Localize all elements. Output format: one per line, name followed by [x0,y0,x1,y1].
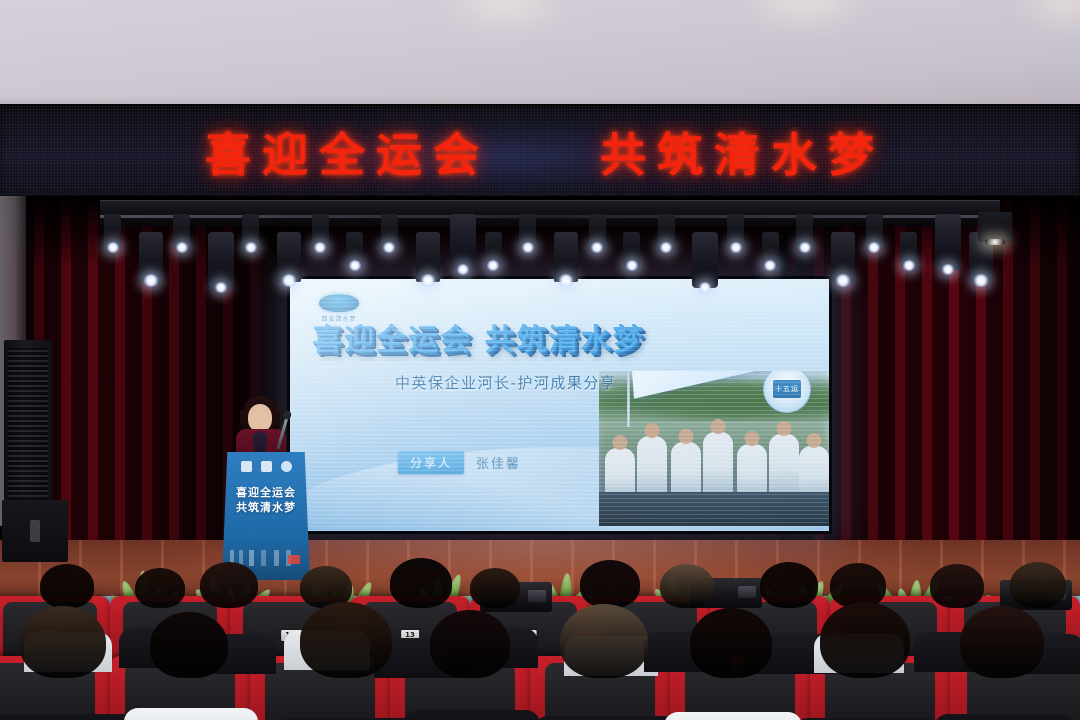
audience-member-head [690,608,772,678]
flag-pole [627,371,630,427]
podium-line-2: 共筑清水梦 [222,500,310,515]
audience-member-head [20,606,106,678]
stage-light-bulb [106,242,119,253]
stage-light [692,232,718,288]
audience-member-head [560,604,648,678]
slide-photo-inset: 以绿水青山之志 企业护河 中英保巡河护河志愿服务队 十五运 [599,371,829,526]
ceiling-light-glow [760,0,850,14]
ceiling [0,0,1080,112]
stage-light-bulb [835,274,851,287]
stage-light [450,214,476,270]
stage-light [519,214,536,248]
audience-member-head [300,602,392,678]
audience-member-shoulders [534,716,678,720]
sponsor-logo-icon [241,461,252,472]
side-stage-light [978,212,1012,242]
audience-member-head [830,563,886,608]
audience-member-shoulders [124,708,258,720]
slide-presenter-line: 分享人 张佳馨 [398,451,521,474]
stage-light-bulb [941,264,954,275]
stage-light-bulb [660,242,673,253]
stage-light [935,214,961,270]
stage-light [312,214,329,248]
stage-light [762,232,779,266]
led-banner-text: 喜迎全运会 共筑清水梦 [0,104,1080,200]
stage-light-bulb [521,242,534,253]
stage-light-bulb [214,282,227,293]
podium-logos [222,461,310,472]
ceiling-light-glow [1030,0,1080,16]
audience-member-head [1010,562,1066,608]
stage-light [554,232,578,282]
audience-member-shoulders [664,712,802,720]
stage-light-bulb [591,242,604,253]
audience-member-head [660,564,714,608]
stage-light [104,214,121,248]
stage-lights [100,212,1000,292]
stage-light [727,214,744,248]
sponsor-logo-icon [281,461,292,472]
stage-light-bulb [348,260,361,271]
audience-member-shoulders [0,714,136,720]
audience-member-head [470,568,520,608]
stage-light-bulb [699,282,712,293]
stage-light-bulb [383,242,396,253]
stage-light [208,232,234,288]
audience-member-head [580,560,640,608]
stage-light-bulb [868,242,881,253]
stage-light-bulb [420,274,436,287]
slide-surface: 西安清水梦 喜迎全运会 共筑清水梦 中英保企业河长-护河成果分享 分享人 张佳馨 [290,279,829,531]
presenter-head [248,404,272,432]
pa-speaker-stack [4,340,52,510]
stage-light-bulb [244,242,257,253]
auditorium-scene: 喜迎全运会 共筑清水梦 西安清水梦 喜迎全运会 共筑清水梦 中英保企业河长-护河… [0,0,1080,720]
audience-member-head [960,606,1044,678]
stage-light-bulb [558,274,574,287]
stage-light-bulb [764,260,777,271]
stage-light [416,232,440,282]
stage-light [277,232,301,282]
audience-member-head [135,568,185,608]
led-banner-left-text: 喜迎全运会 [205,119,490,185]
podium-text: 喜迎全运会 共筑清水梦 [222,485,310,515]
audience-member-head [150,612,228,678]
audience-member-shoulders [934,714,1074,720]
stage-light [139,232,163,282]
presenter-figure [234,396,288,458]
projection-screen: 西安清水梦 喜迎全运会 共筑清水梦 中英保企业河长-护河成果分享 分享人 张佳馨 [287,276,832,534]
audience-member-head [200,562,258,608]
stage-light-bulb [625,260,638,271]
audience-member-head [390,558,452,608]
audience-member-head [40,564,94,608]
stage-light [242,214,259,248]
slide-subtitle: 中英保企业河长-护河成果分享 [395,372,616,393]
stage-light-bulb [281,274,297,287]
stage-light [831,232,855,282]
stage-light [900,232,917,266]
stage-light-bulb [902,260,915,271]
stage-light [346,232,363,266]
stage-light [381,214,398,248]
sponsor-logo-icon [261,461,272,472]
stage-light [173,214,190,248]
stage-light-bulb [729,242,742,253]
audience-member-head [760,562,818,608]
photo-foreground-bench [599,492,829,526]
stage-light-bulb [314,242,327,253]
led-banner: 喜迎全运会 共筑清水梦 [0,104,1080,200]
stage-light-bulb [798,242,811,253]
pa-subwoofer [2,500,68,562]
stage-light [589,214,606,248]
emblem-label: 十五运 [773,380,801,398]
stage-light [485,232,502,266]
stage-light-bulb [973,274,989,287]
stage-light [658,214,675,248]
audience-member-head [430,610,510,678]
stage-light [866,214,883,248]
slide-title: 喜迎全运会 共筑清水梦 [312,315,672,359]
podium-line-1: 喜迎全运会 [222,485,310,500]
water-drop-icon [319,294,359,312]
audience-member-head [820,602,910,678]
audience-seating: 101112134 [0,560,1080,720]
stage-light-bulb [143,274,159,287]
presenter-name: 张佳馨 [476,453,521,472]
presenter-label-badge: 分享人 [398,451,464,474]
audience-member-head [930,564,984,608]
stage-light [796,214,813,248]
stage-light-bulb [175,242,188,253]
stage-light-bulb [457,264,470,275]
stage-light-bulb [487,260,500,271]
led-banner-right-text: 共筑清水梦 [600,119,885,185]
ceiling-light-glow [460,0,550,16]
audience-member-shoulders [404,710,540,720]
stage-light [623,232,640,266]
